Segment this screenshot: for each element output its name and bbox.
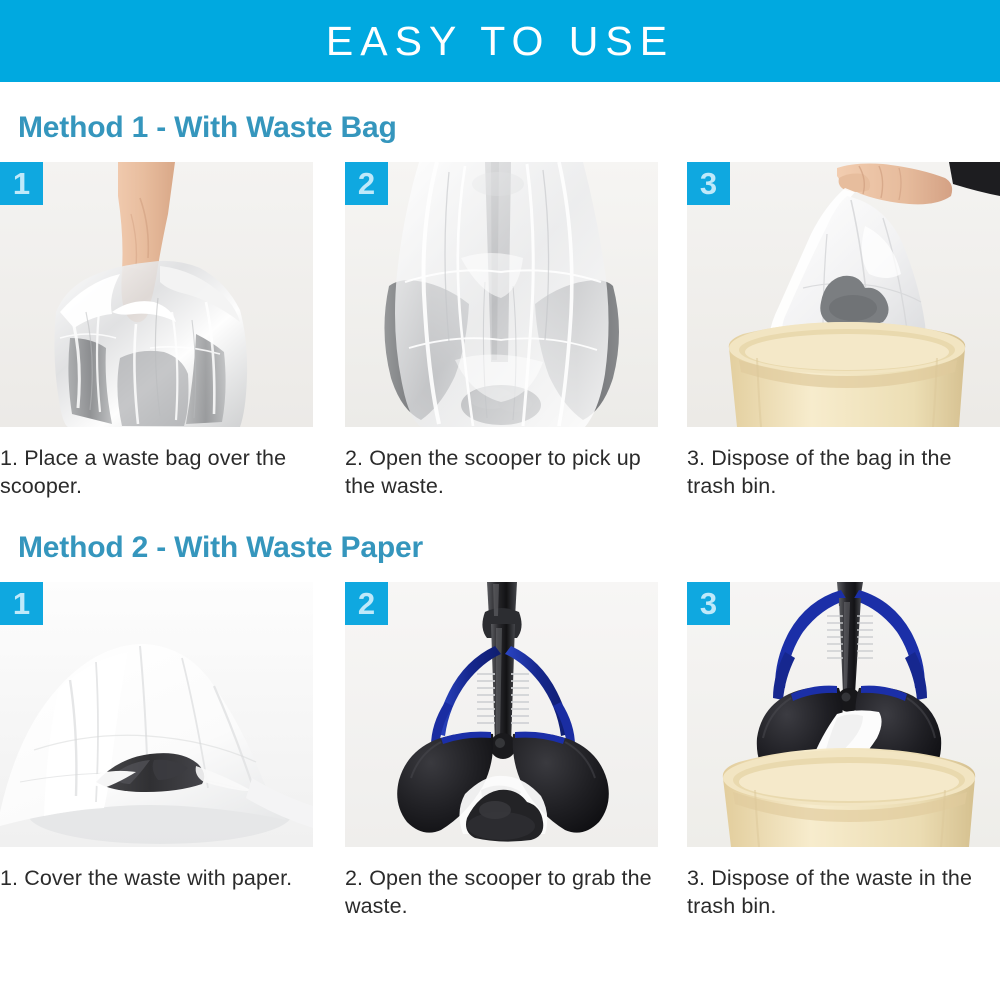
illustration-paper-covering-waste bbox=[0, 582, 313, 847]
method-2-heading: Method 2 - With Waste Paper bbox=[0, 531, 1000, 565]
step-caption: 2. Open the scooper to grab the waste. bbox=[345, 864, 658, 921]
step-photo-bag-into-bin: 3 bbox=[687, 162, 1000, 427]
page-title: EASY TO USE bbox=[326, 21, 674, 62]
method-2-steps-row: 1 1. Cover the waste with paper. bbox=[0, 582, 1000, 921]
method-1-heading: Method 1 - With Waste Bag bbox=[0, 111, 1000, 145]
step-caption: 1. Place a waste bag over the scooper. bbox=[0, 444, 313, 501]
step-card-m2-2: 2 2. Open the scooper to grab the waste. bbox=[345, 582, 658, 921]
step-badge: 3 bbox=[687, 162, 730, 205]
illustration-scooper-releasing-paper-into-bin bbox=[687, 582, 1000, 847]
step-photo-scooper-into-bin: 3 bbox=[687, 582, 1000, 847]
step-caption: 3. Dispose of the waste in the trash bin… bbox=[687, 864, 1000, 921]
step-card-m1-3: 3 3. Dispose of the bag in the trash bin… bbox=[687, 162, 1000, 501]
header-banner: EASY TO USE bbox=[0, 0, 1000, 82]
step-badge: 1 bbox=[0, 582, 43, 625]
illustration-bagged-scooper-open-over-waste bbox=[345, 162, 658, 427]
step-photo-paper-covering-waste: 1 bbox=[0, 582, 313, 847]
step-photo-bagged-scooper-open: 2 bbox=[345, 162, 658, 427]
step-badge: 3 bbox=[687, 582, 730, 625]
step-badge: 2 bbox=[345, 582, 388, 625]
method-1-steps-row: 1 1. Place a waste bag over the scooper. bbox=[0, 162, 1000, 501]
step-card-m2-1: 1 1. Cover the waste with paper. bbox=[0, 582, 313, 921]
step-caption: 2. Open the scooper to pick up the waste… bbox=[345, 444, 658, 501]
illustration-hand-dropping-bag-into-trash-bin bbox=[687, 162, 1000, 427]
step-badge: 2 bbox=[345, 162, 388, 205]
step-caption: 1. Cover the waste with paper. bbox=[0, 864, 313, 892]
illustration-hand-inserting-into-plastic-bag bbox=[0, 162, 313, 427]
step-card-m2-3: 3 3. Dispose of the waste in the trash b… bbox=[687, 582, 1000, 921]
step-photo-hand-inserting-bag: 1 bbox=[0, 162, 313, 427]
step-card-m1-1: 1 1. Place a waste bag over the scooper. bbox=[0, 162, 313, 501]
step-card-m1-2: 2 2. Open the scooper to pick up the was… bbox=[345, 162, 658, 501]
step-badge: 1 bbox=[0, 162, 43, 205]
illustration-open-scooper-above-waste bbox=[345, 582, 658, 847]
step-caption: 3. Dispose of the bag in the trash bin. bbox=[687, 444, 1000, 501]
step-photo-open-scooper: 2 bbox=[345, 582, 658, 847]
